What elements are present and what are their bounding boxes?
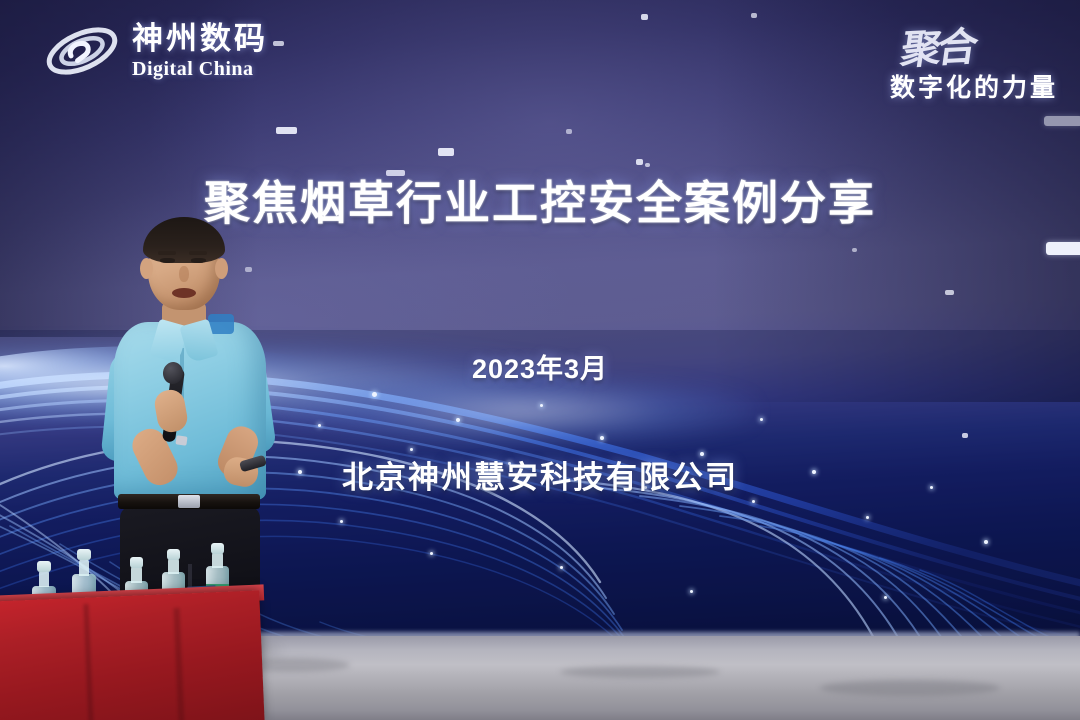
sparkle-dash <box>276 127 297 134</box>
speaker-ear-right <box>215 258 228 279</box>
speaker-eye-left <box>160 258 175 263</box>
sparkle-dash <box>945 290 954 295</box>
screen-accent-bar <box>1046 242 1080 255</box>
sparkle-dash <box>636 159 643 165</box>
brand-name-cn: 神州数码 <box>132 23 268 54</box>
sparkle-dash <box>566 129 572 134</box>
speaker-eyebrow-right <box>189 251 207 255</box>
speaker-eyebrow-left <box>158 251 176 255</box>
digital-china-wordmark: 神州数码 Digital China <box>132 23 268 79</box>
spiral-swoosh-icon <box>42 20 122 82</box>
speaker-hair <box>143 217 225 263</box>
speaker-mouth <box>172 288 196 298</box>
brand-name-en: Digital China <box>132 59 268 79</box>
sparkle-dash <box>438 148 454 156</box>
conference-stage-photo: 神州数码 Digital China 聚合 数字化的力量 聚焦烟草行业工控安全案… <box>0 0 1080 720</box>
sparkle-dash <box>751 13 757 18</box>
event-brush-text: 聚合 <box>898 14 979 76</box>
speaker-belt-buckle <box>178 495 200 508</box>
sparkle-dash <box>852 248 857 252</box>
digital-china-logo: 神州数码 Digital China <box>42 20 268 82</box>
floor-scuff <box>560 666 720 678</box>
sparkle-dash <box>645 163 650 167</box>
red-table-skirt <box>0 590 265 720</box>
speaker-person <box>96 222 286 642</box>
speaker-eye-right <box>191 258 206 263</box>
screen-accent-bar <box>1044 116 1080 126</box>
sparkle-dash <box>273 41 284 46</box>
event-theme-logo: 聚合 数字化的力量 <box>890 16 1058 104</box>
floor-scuff <box>820 680 1000 696</box>
sparkle-dash <box>641 14 648 20</box>
speaker-ear-left <box>140 258 153 279</box>
sparkle-dash <box>386 170 405 176</box>
speaker-nose <box>179 266 189 282</box>
microphone-tip <box>175 435 187 445</box>
